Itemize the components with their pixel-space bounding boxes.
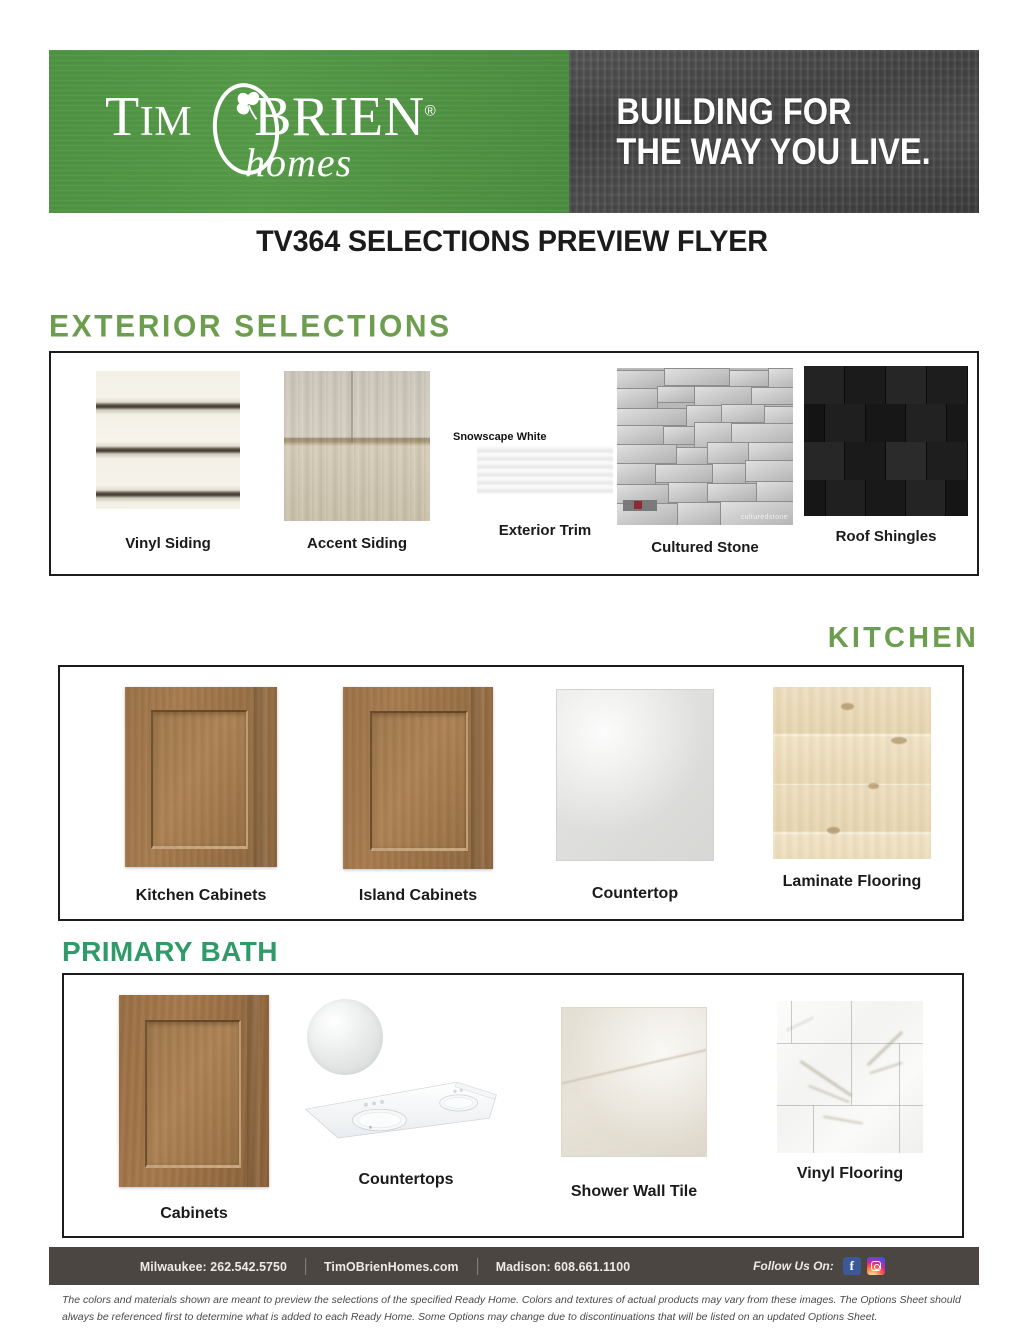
footer-phone-milwaukee: Milwaukee: 262.542.5750	[140, 1259, 287, 1274]
swatch-bath-cabinets[interactable]: Cabinets	[84, 995, 304, 1223]
tagline: BUILDING FOR THE WAY YOU LIVE.	[617, 92, 931, 172]
section-box-exterior: Vinyl Siding Accent Siding Snowscape Whi…	[49, 351, 979, 576]
logo-im: IM	[140, 99, 192, 145]
swatch-label-bath-countertops: Countertops	[286, 1171, 526, 1189]
footer-contact-bar: Milwaukee: 262.542.5750 TimOBrienHomes.c…	[49, 1247, 979, 1285]
vanity-top-image	[301, 999, 511, 1169]
swatch-label-island-cabinets: Island Cabinets	[303, 887, 533, 905]
swatch-label-shower-wall-tile: Shower Wall Tile	[516, 1183, 752, 1201]
flyer-page: TIMBRIEN® homes BUILDING FOR THE WAY YOU…	[0, 0, 1024, 1343]
cabinet-center-panel	[370, 711, 468, 851]
section-box-kitchen: Kitchen Cabinets Island Cabinets Counter…	[58, 665, 964, 921]
footer-divider	[305, 1258, 306, 1275]
swatch-laminate-flooring[interactable]: Laminate Flooring	[742, 687, 962, 891]
swatch-bath-countertops[interactable]: Countertops	[286, 999, 526, 1189]
cabinet-stile	[471, 687, 485, 869]
cabinet-center-panel	[145, 1020, 241, 1168]
instagram-icon[interactable]	[867, 1257, 885, 1275]
quartz-round-sample	[307, 999, 383, 1075]
footer-divider	[477, 1258, 478, 1275]
cabinet-stile	[254, 687, 268, 867]
swatch-label-cultured-stone: Cultured Stone	[607, 539, 803, 556]
bath-swatch-row: Cabinets	[64, 975, 962, 1236]
company-logo: TIMBRIEN® homes	[105, 77, 505, 187]
exterior-swatch-row: Vinyl Siding Accent Siding Snowscape Whi…	[51, 353, 977, 574]
footer-phone-madison: Madison: 608.661.1100	[496, 1259, 630, 1274]
accent-siding-texture	[284, 371, 430, 521]
logo-t: T	[105, 86, 140, 148]
swatch-label-countertop: Countertop	[520, 885, 750, 903]
vinyl-siding-texture	[96, 371, 240, 509]
swatch-label-laminate-flooring: Laminate Flooring	[742, 873, 962, 891]
swatch-label-accent-siding: Accent Siding	[259, 535, 455, 552]
swatch-cultured-stone[interactable]: culturedstone Cultured Stone	[607, 368, 803, 556]
social-follow-group: Follow Us On: f	[753, 1257, 885, 1275]
swatch-label-vinyl-siding: Vinyl Siding	[73, 535, 263, 552]
swatch-accent-siding[interactable]: Accent Siding	[259, 371, 455, 552]
swatch-island-cabinets[interactable]: Island Cabinets	[303, 687, 533, 905]
swatch-vinyl-flooring[interactable]: Vinyl Flooring	[740, 1001, 960, 1183]
tagline-line-2: THE WAY YOU LIVE.	[617, 132, 931, 172]
tagline-panel: BUILDING FOR THE WAY YOU LIVE.	[569, 50, 979, 213]
footer-website-link[interactable]: TimOBrienHomes.com	[324, 1259, 459, 1274]
clover-icon	[231, 90, 265, 124]
section-heading-kitchen: KITCHEN	[828, 622, 979, 655]
shower-wall-tile-texture	[561, 1007, 707, 1157]
swatch-label-roof-shingles: Roof Shingles	[791, 528, 981, 545]
bath-cabinet-door	[119, 995, 269, 1187]
cabinet-center-panel	[151, 710, 248, 849]
exterior-trim-texture	[477, 446, 613, 494]
logo-script-homes: homes	[245, 139, 352, 186]
roof-shingles-texture	[804, 366, 968, 516]
kitchen-swatch-row: Kitchen Cabinets Island Cabinets Counter…	[60, 667, 962, 919]
tagline-line-1: BUILDING FOR	[617, 92, 931, 132]
kitchen-cabinet-door	[125, 687, 277, 867]
facebook-icon[interactable]: f	[843, 1257, 861, 1275]
section-box-primary-bath: Cabinets	[62, 973, 964, 1238]
logo-panel: TIMBRIEN® homes	[49, 50, 569, 213]
section-heading-primary-bath: PRIMARY BATH	[62, 936, 278, 968]
section-heading-exterior: EXTERIOR SELECTIONS	[49, 309, 452, 345]
vinyl-flooring-texture	[777, 1001, 923, 1153]
stone-brand-badge	[623, 500, 657, 511]
countertop-texture	[556, 689, 714, 861]
swatch-label-bath-cabinets: Cabinets	[84, 1205, 304, 1223]
island-cabinet-door	[343, 687, 493, 869]
footer-contact-items: Milwaukee: 262.542.5750 TimOBrienHomes.c…	[140, 1258, 630, 1275]
swatch-label-kitchen-cabinets: Kitchen Cabinets	[86, 887, 316, 905]
swatch-shower-wall-tile[interactable]: Shower Wall Tile	[516, 1007, 752, 1201]
laminate-flooring-texture	[773, 687, 931, 859]
cultured-stone-texture: culturedstone	[617, 368, 793, 525]
swatch-vinyl-siding[interactable]: Vinyl Siding	[73, 371, 263, 552]
cabinet-stile	[247, 995, 261, 1187]
swatch-roof-shingles[interactable]: Roof Shingles	[791, 366, 981, 545]
swatch-kitchen-countertop[interactable]: Countertop	[520, 689, 750, 903]
header-banner: TIMBRIEN® homes BUILDING FOR THE WAY YOU…	[49, 50, 979, 213]
follow-us-label: Follow Us On:	[753, 1259, 834, 1273]
disclaimer-text: The colors and materials shown are meant…	[62, 1292, 978, 1326]
swatch-label-vinyl-flooring: Vinyl Flooring	[740, 1165, 960, 1183]
registered-mark: ®	[425, 102, 437, 119]
stone-watermark: culturedstone	[741, 514, 788, 521]
double-sink-vanity-icon	[301, 1075, 501, 1147]
page-title: TV364 SELECTIONS PREVIEW FLYER	[20, 225, 1003, 259]
swatch-kitchen-cabinets[interactable]: Kitchen Cabinets	[86, 687, 316, 905]
